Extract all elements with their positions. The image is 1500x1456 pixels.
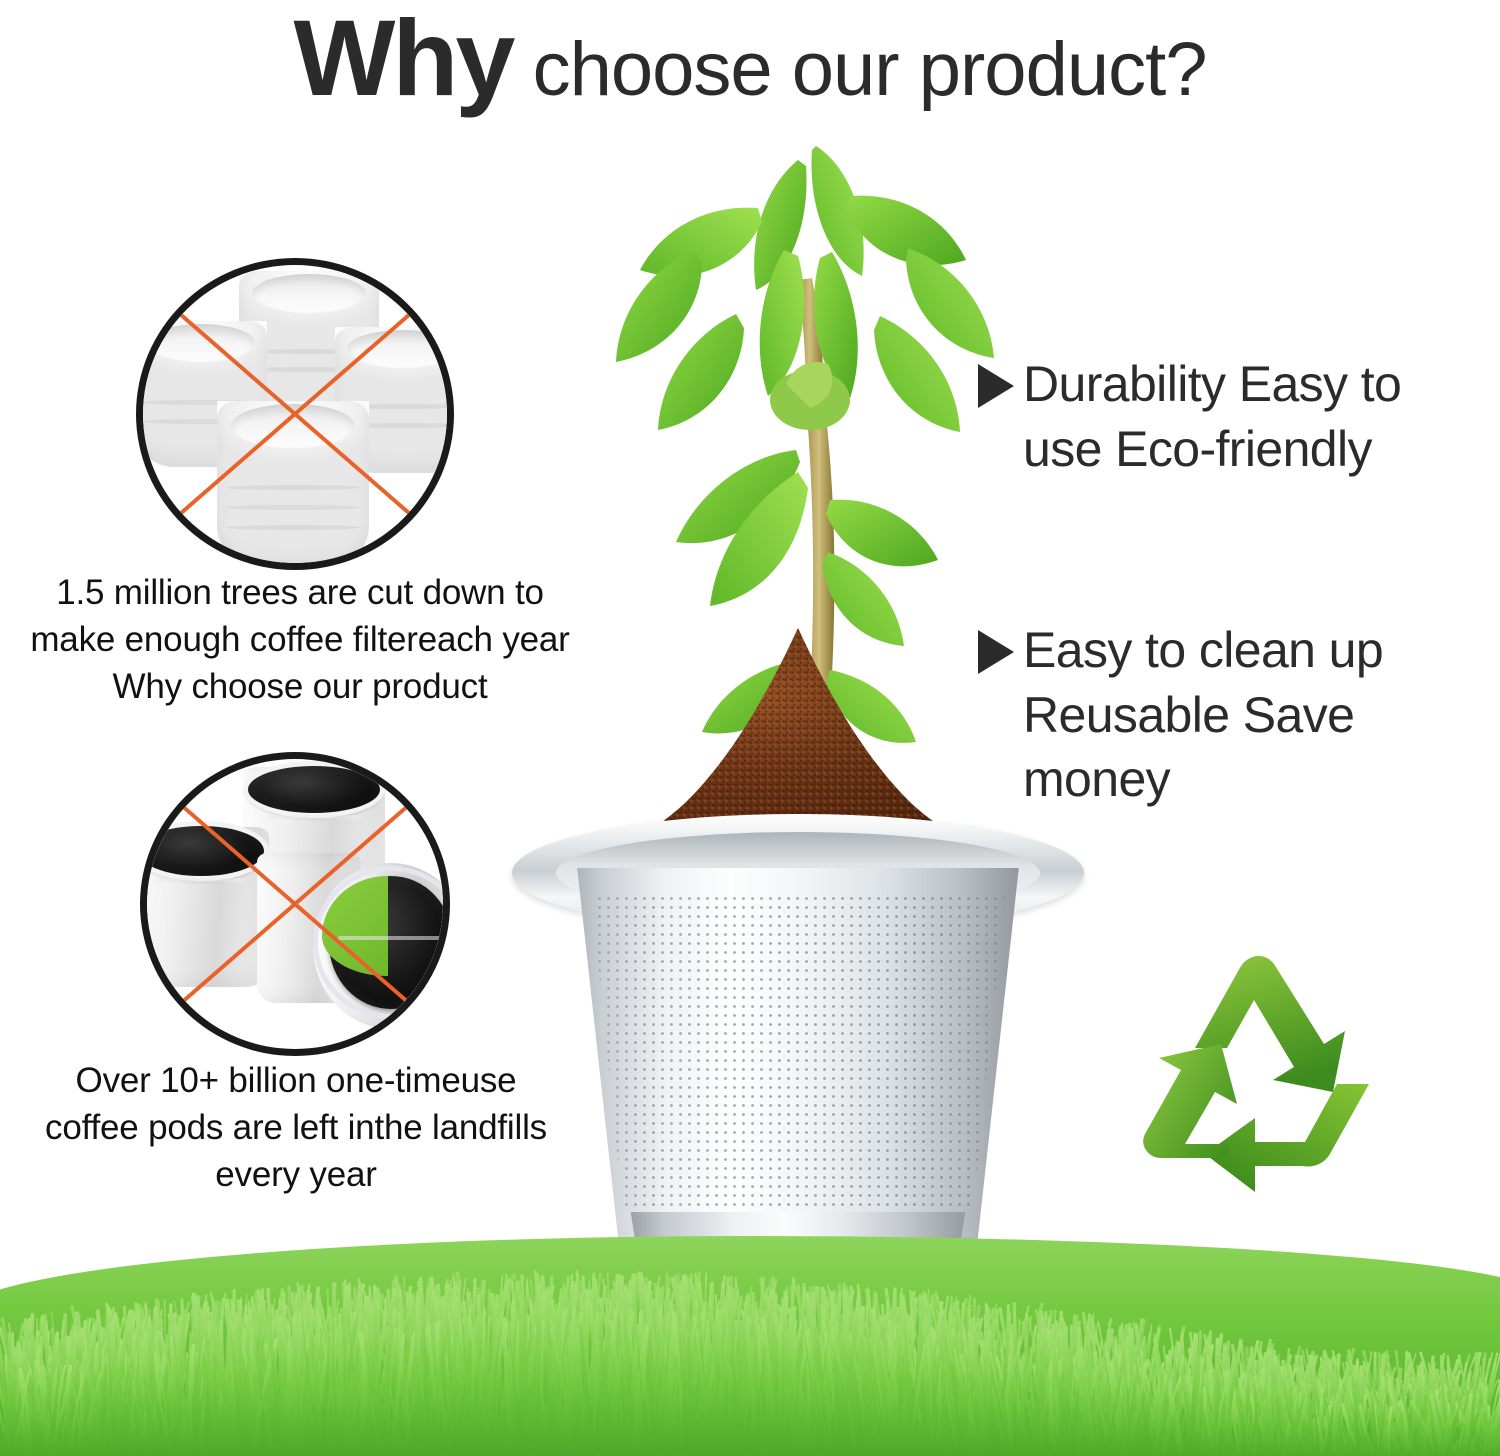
page-title-emphasis: Why (293, 0, 512, 118)
benefit-bullet-2-text: Easy to clean up Reusable Save money (1023, 618, 1453, 812)
infographic-canvas: Why choose our product? (0, 0, 1500, 1456)
recycling-arrows-icon (1133, 952, 1395, 1200)
badge-kcup-pods-caption: Over 10+ billion one-timeuse coffee pods… (38, 1058, 554, 1199)
badge-paper-filters (136, 258, 454, 570)
benefit-bullet-1: Durability Easy to use Eco-friendly (978, 352, 1448, 481)
badge-kcup-pods (140, 752, 450, 1056)
page-title: Why choose our product? (0, 4, 1500, 112)
benefit-bullet-1-text: Durability Easy to use Eco-friendly (1023, 352, 1448, 481)
paper-coffee-filters-icon (143, 265, 447, 563)
grass-strip (0, 1221, 1500, 1456)
triangle-right-icon (978, 630, 1014, 674)
grass-blades-layer (0, 1221, 1500, 1456)
benefit-bullet-2: Easy to clean up Reusable Save money (978, 618, 1468, 812)
badge-paper-filters-caption: 1.5 million trees are cut down to make e… (20, 570, 580, 711)
filter-mesh-perforations (568, 894, 1028, 1212)
single-use-kcup-pods-icon (147, 759, 443, 1049)
triangle-right-icon (978, 364, 1014, 408)
